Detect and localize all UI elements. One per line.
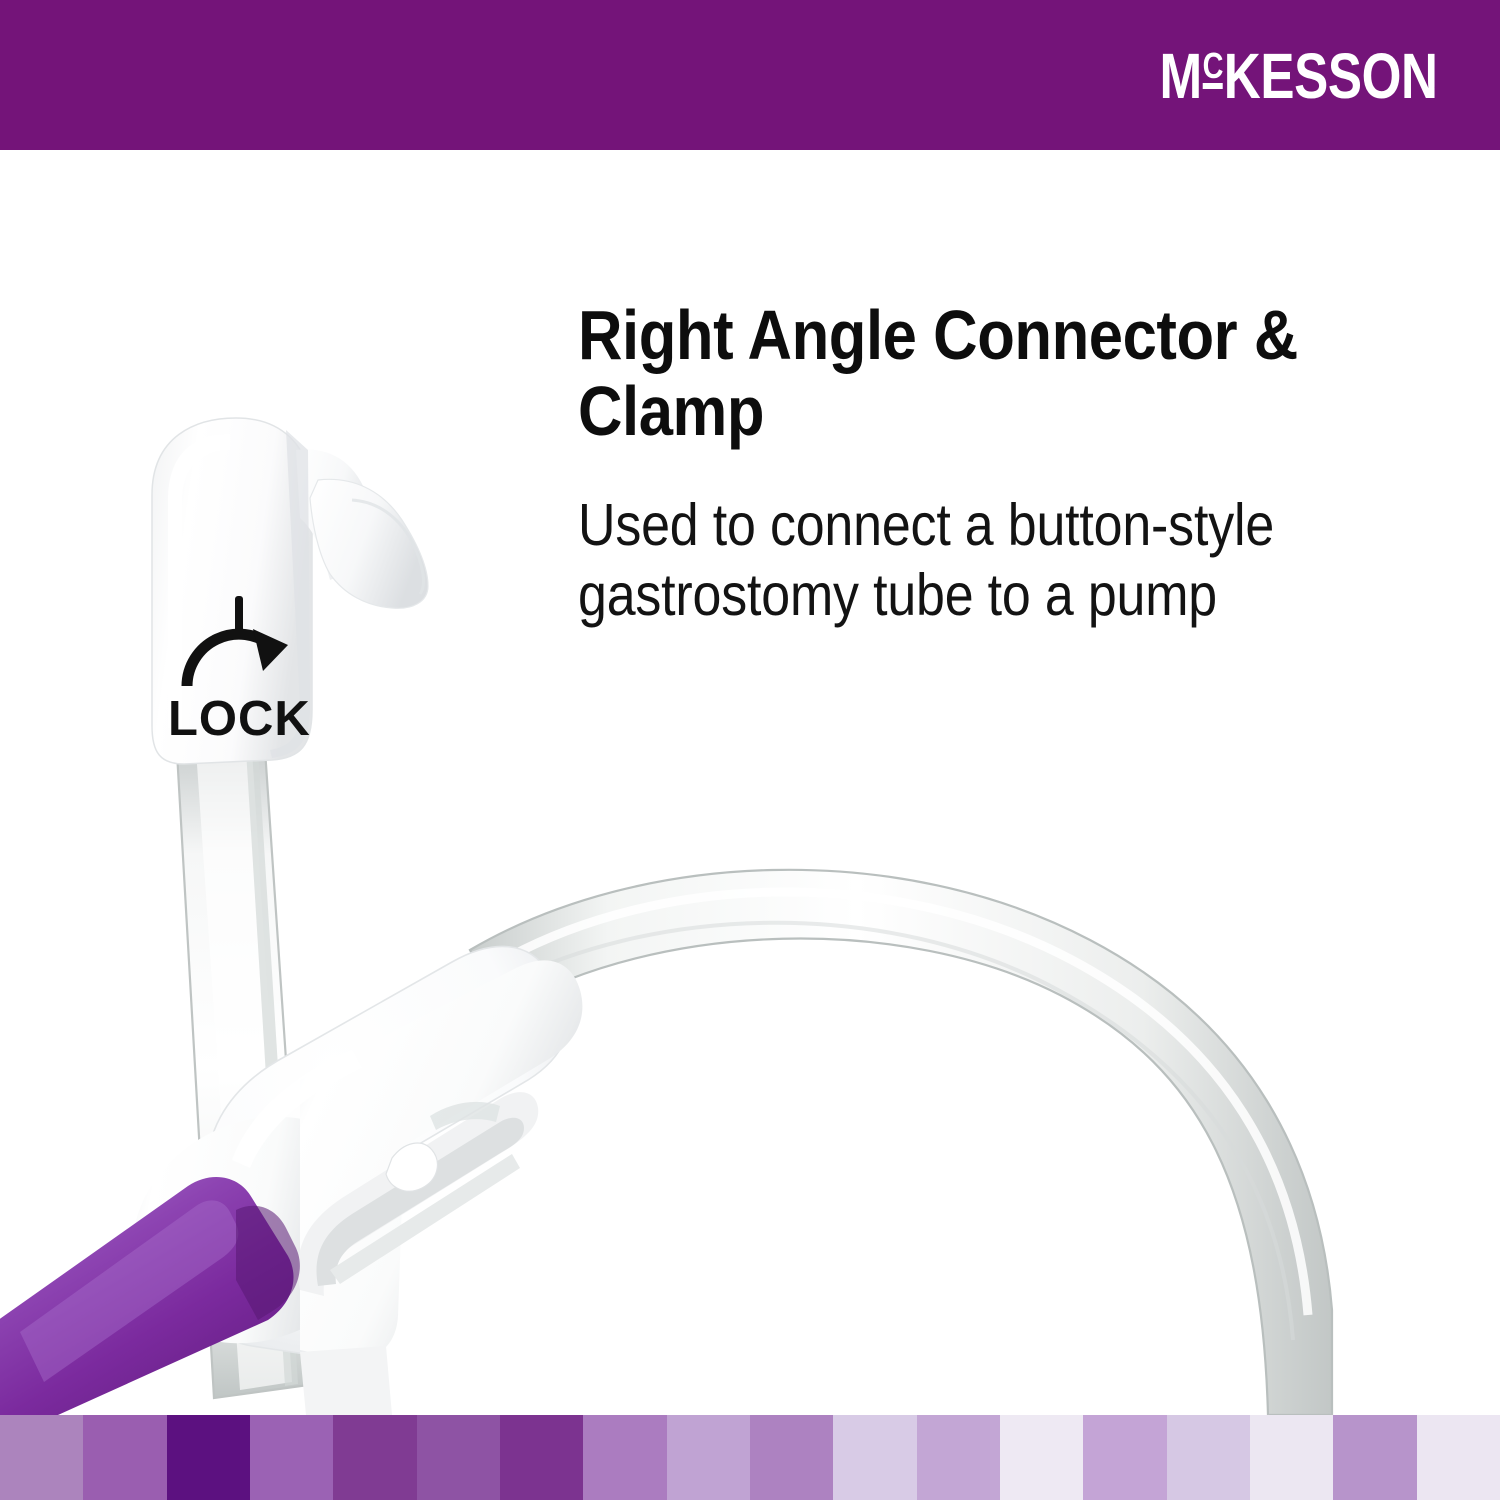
swatch: [1000, 1415, 1083, 1500]
swatch: [417, 1415, 500, 1500]
swatch: [0, 1415, 83, 1500]
page-title: Right Angle Connector & Clamp: [578, 298, 1308, 449]
swatch: [667, 1415, 750, 1500]
swatch: [1083, 1415, 1166, 1500]
swatch: [917, 1415, 1000, 1500]
swatch: [750, 1415, 833, 1500]
swatch: [1167, 1415, 1250, 1500]
copy-block: Right Angle Connector & Clamp Used to co…: [578, 298, 1408, 630]
swatch: [250, 1415, 333, 1500]
page-subtitle: Used to connect a button-style gastrosto…: [578, 449, 1308, 630]
swatch: [167, 1415, 250, 1500]
color-swatch-strip: [0, 1415, 1500, 1500]
lock-label-text: LOCK: [168, 692, 311, 746]
swatch: [83, 1415, 166, 1500]
swatch: [1417, 1415, 1500, 1500]
brand-header-bar: MCKESSON: [0, 0, 1500, 150]
swatch: [1333, 1415, 1416, 1500]
swatch: [833, 1415, 916, 1500]
swatch: [583, 1415, 666, 1500]
swatch: [333, 1415, 416, 1500]
mckesson-logo: MCKESSON: [1160, 44, 1438, 108]
swatch: [1250, 1415, 1333, 1500]
logo-suffix: KESSON: [1224, 40, 1438, 112]
logo-prefix: M: [1160, 40, 1202, 112]
logo-superscript-c: C: [1203, 51, 1223, 89]
swatch: [500, 1415, 583, 1500]
product-info-card: MCKESSON: [0, 0, 1500, 1500]
